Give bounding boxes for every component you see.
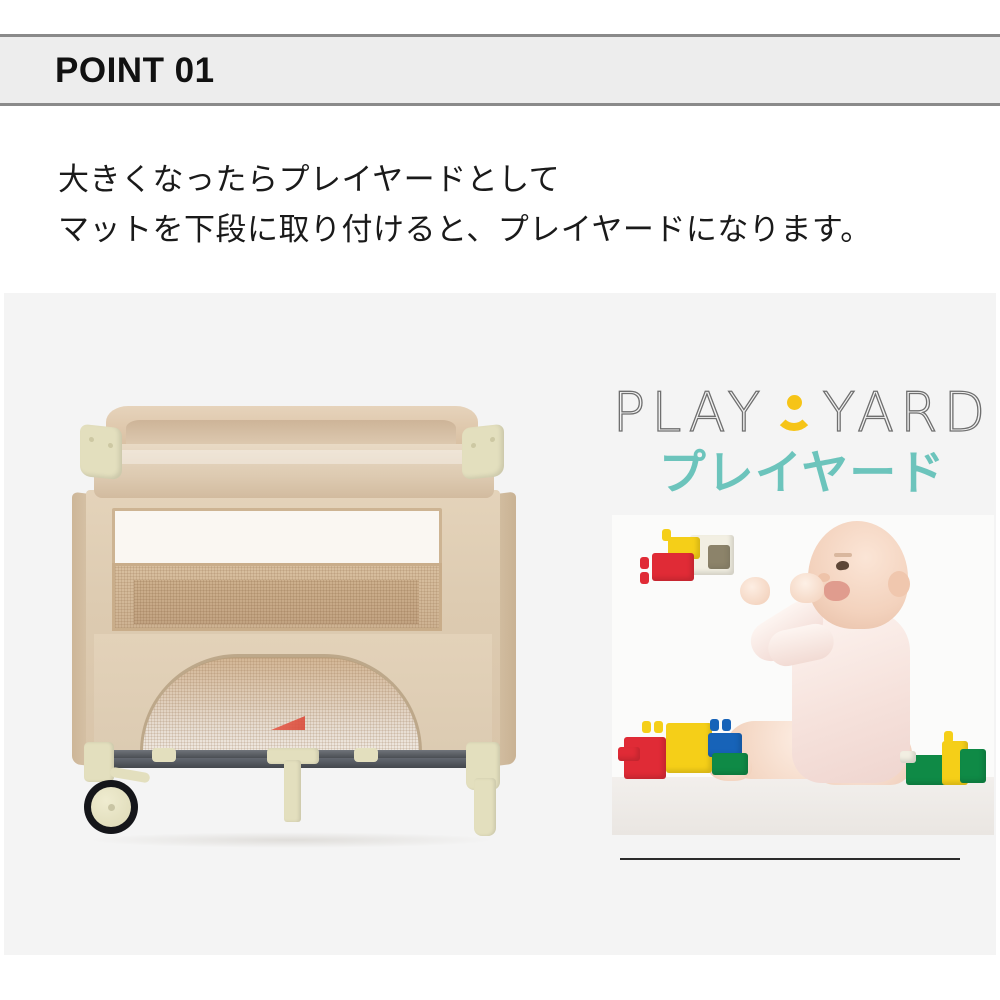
toy-peg (662, 529, 671, 541)
toy-peg (642, 721, 651, 733)
toy-peg (944, 731, 953, 743)
baby-photo-floor (612, 777, 994, 835)
playpen-frame-hub-right (354, 748, 378, 762)
divider-rule (620, 858, 960, 860)
playpen-product-image (64, 398, 534, 858)
smiley-mouth (774, 409, 814, 431)
baby-eyebrow (834, 553, 852, 557)
brand-logo-word-play: PLAY (613, 381, 767, 444)
toy-block (900, 751, 916, 763)
playpen-front-rail-highlight (110, 450, 480, 464)
point-section-page: POINT 01 大きくなったらプレイヤードとして マットを下段に取り付けると、… (0, 0, 1000, 1000)
baby-ear (888, 571, 910, 597)
toy-peg (654, 721, 663, 733)
point-header-band: POINT 01 (0, 34, 1000, 106)
baby-hand-left (740, 577, 770, 605)
playpen-floor-shadow (86, 832, 496, 848)
playpen-leg-left (84, 742, 114, 782)
toy-block (618, 747, 640, 761)
playpen-corner-cap-right (462, 424, 504, 480)
toy-block (712, 753, 748, 775)
brand-logo-word-yard: YARD (822, 381, 991, 444)
toy-block-pegs (710, 719, 731, 731)
brand-logo: PLAY YARD (612, 381, 992, 444)
cap-screw (89, 437, 94, 443)
playpen-frame-hub-left (152, 748, 176, 762)
toy-peg (640, 572, 649, 584)
brand-subtitle-jp: プレイヤード (612, 448, 992, 500)
toy-block (666, 723, 712, 773)
description-line-1: 大きくなったらプレイヤードとして (58, 155, 958, 205)
toy-block-pegs (642, 721, 663, 733)
playpen-corner-cap-left (80, 424, 122, 480)
description-block: 大きくなったらプレイヤードとして マットを下段に取り付けると、プレイヤードになり… (58, 155, 958, 255)
brand-lockup: PLAY YARD プレイヤード (612, 381, 992, 500)
toy-peg (710, 719, 719, 731)
toy-block (708, 545, 730, 569)
cap-screw (490, 437, 495, 443)
toy-peg (640, 557, 649, 569)
photo-panel: PLAY YARD プレイヤード (4, 293, 996, 955)
smiley-dot (787, 395, 802, 410)
playpen-mesh-window-upper (112, 508, 442, 566)
playpen-center-post (284, 760, 301, 822)
toy-peg (722, 719, 731, 731)
baby-photo (612, 515, 994, 835)
toy-block-pegs (944, 731, 953, 743)
baby-hand-right (790, 573, 824, 603)
page-title: POINT 01 (55, 53, 215, 88)
playpen-wheel-axle (108, 804, 115, 811)
cap-screw (471, 443, 476, 449)
smiley-face-icon (768, 387, 820, 439)
toy-block (652, 553, 694, 581)
playpen-leg-right-lower (474, 778, 496, 836)
toy-block-pegs (640, 557, 649, 584)
playpen-mesh-panel-inner (134, 580, 419, 624)
toy-block (960, 749, 986, 783)
cap-screw (108, 443, 113, 449)
description-line-2: マットを下段に取り付けると、プレイヤードになります。 (58, 205, 958, 255)
toy-block-pegs (662, 529, 671, 541)
